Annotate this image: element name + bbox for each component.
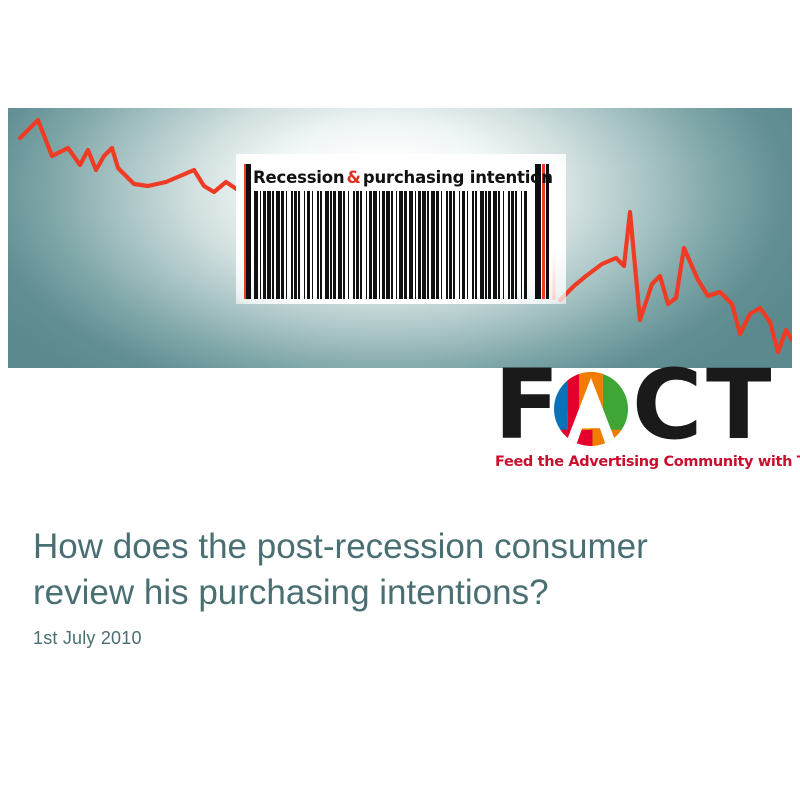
barcode-title-part1: Recession [253,168,344,187]
barcode-bars [254,191,528,299]
barcode-title-part2: purchasing intention [363,168,553,187]
logo-letter-t: T [706,364,768,446]
barcode: Recession & purchasing intention [243,164,555,299]
barcode-title-ampersand: & [344,168,362,187]
fact-logo: F C T Feed t [494,370,792,478]
page-title-line-1: How does the post-recession consumer [33,524,763,570]
page-date: 1st July 2010 [33,628,142,649]
logo-letter-f: F [494,364,557,446]
barcode-guard-left [246,164,251,299]
chart-line-right [560,212,792,352]
logo-letter-a-color-wheel [554,372,628,446]
page-title-line-2: review his purchasing intentions? [33,570,763,616]
fact-wordmark: F C T [494,370,792,452]
logo-letter-c: C [632,364,699,446]
recession-banner: Recession & purchasing intention [8,108,792,368]
barcode-title: Recession & purchasing intention [253,164,555,190]
logo-tagline: Feed the Advertising Community with Tren… [495,454,793,470]
page-title: How does the post-recession consumer rev… [33,524,763,616]
